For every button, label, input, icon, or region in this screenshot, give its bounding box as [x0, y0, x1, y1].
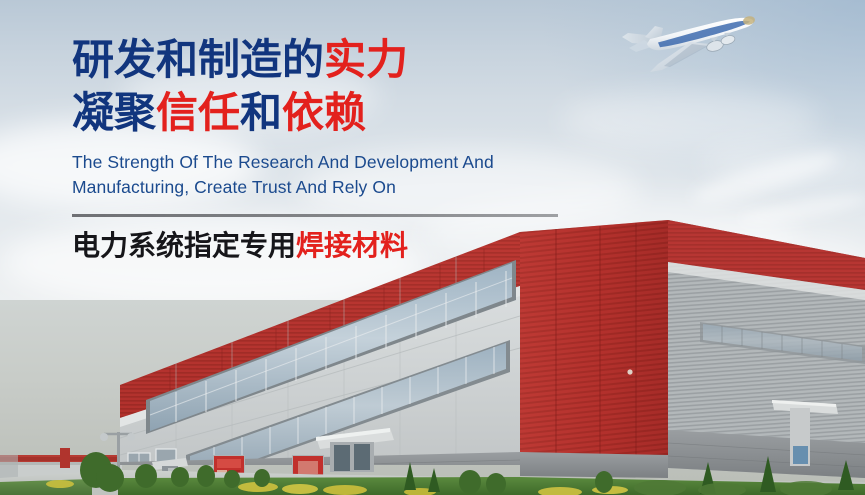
subheadline-line-1: The Strength Of The Research And Develop… — [72, 150, 592, 175]
divider-rule — [72, 214, 558, 217]
promotional-banner: 研发和制造的实力 凝聚信任和依赖 The Strength Of The Res… — [0, 0, 865, 495]
headline-line-1: 研发和制造的实力 — [72, 36, 592, 84]
subheadline-line-2: Manufacturing, Create Trust And Rely On — [72, 175, 592, 200]
headline-line-1-navy: 研发和制造的 — [72, 36, 324, 83]
headline-line-2-red-b: 依赖 — [282, 89, 366, 136]
headline-line-2-navy-a: 凝聚 — [72, 89, 156, 136]
headline-line-2-red-a: 信任 — [156, 89, 240, 136]
tagline-dark: 电力系统指定专用 — [72, 230, 296, 261]
tagline: 电力系统指定专用焊接材料 — [72, 229, 592, 263]
headline-line-2-navy-b: 和 — [240, 89, 282, 136]
headline-line-2: 凝聚信任和依赖 — [72, 89, 592, 137]
tagline-red: 焊接材料 — [296, 230, 408, 261]
headline-line-1-red: 实力 — [324, 36, 408, 83]
banner-text-block: 研发和制造的实力 凝聚信任和依赖 The Strength Of The Res… — [72, 36, 592, 263]
